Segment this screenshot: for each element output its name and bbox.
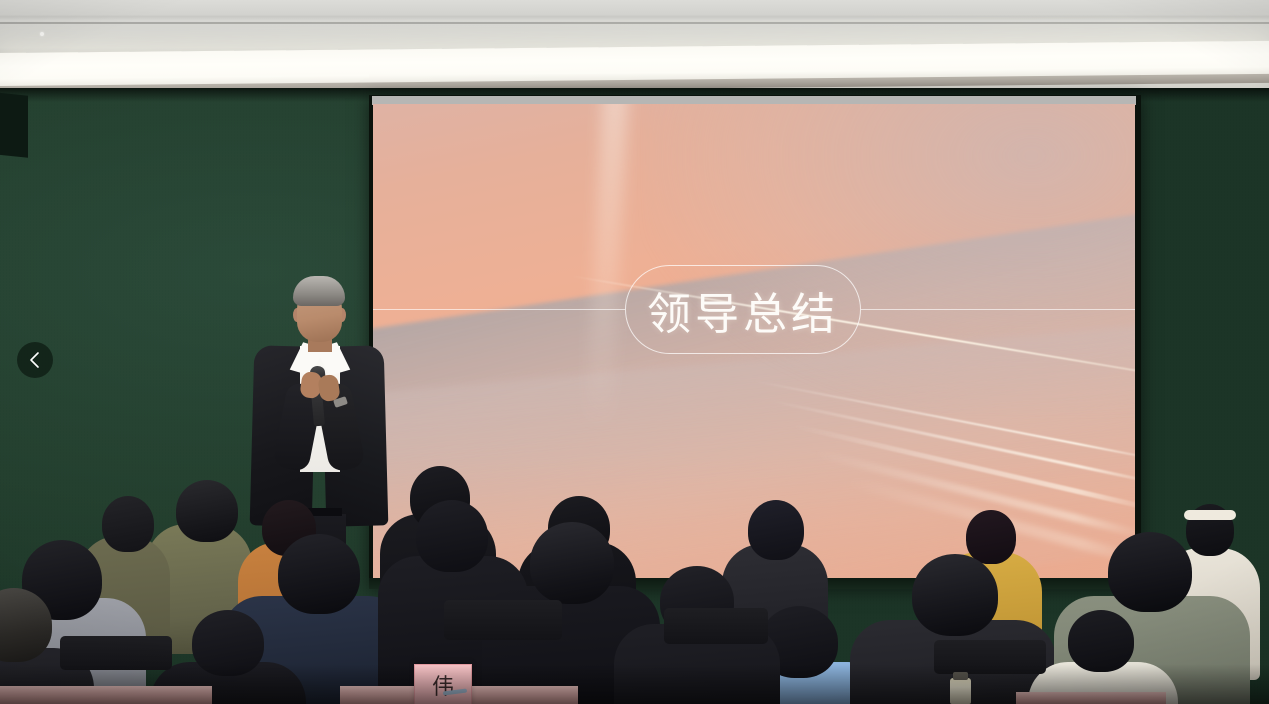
photo-viewer: 领导总结 (0, 0, 1269, 704)
chair-back (444, 600, 562, 640)
projection-screen: 领导总结 (373, 104, 1135, 580)
ceiling-fixture-dot (40, 32, 44, 36)
person-head (1068, 610, 1134, 672)
person-head (912, 554, 998, 636)
person-head (748, 500, 804, 560)
person-headband (1184, 510, 1236, 520)
previous-image-button[interactable] (17, 342, 53, 378)
chair-back (664, 608, 768, 644)
person-head (102, 496, 154, 552)
slide-rule-left (373, 309, 625, 310)
slide-rule-right (861, 309, 1135, 310)
person-head (278, 534, 360, 614)
person-head (530, 522, 614, 604)
speaker-hair (293, 276, 345, 306)
corner-fixture (0, 92, 28, 158)
ceiling-seam (0, 22, 1269, 24)
person-head (416, 500, 488, 572)
person-head (966, 510, 1016, 564)
slide-haze (647, 104, 1135, 409)
person-head (176, 480, 238, 542)
foreground-shadow (0, 664, 1269, 704)
chevron-left-icon (28, 351, 42, 369)
slide-title: 领导总结 (625, 265, 861, 354)
person-head (1108, 532, 1192, 612)
